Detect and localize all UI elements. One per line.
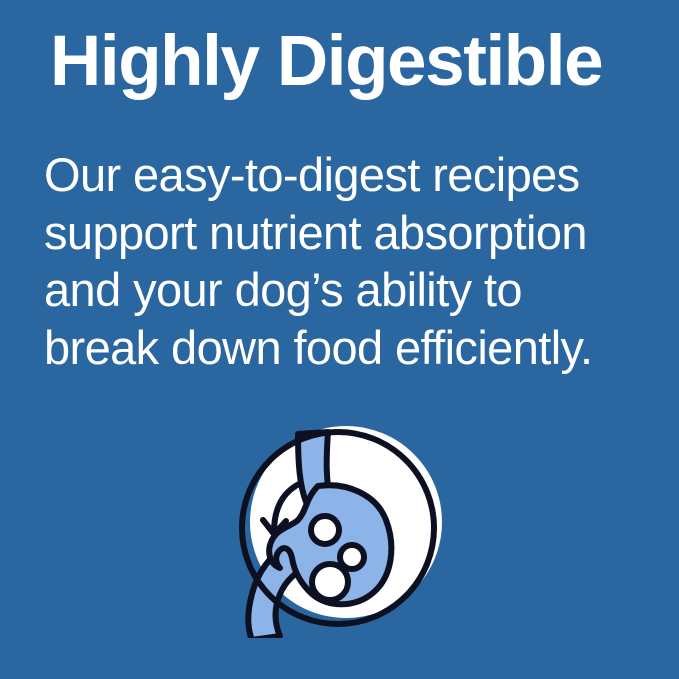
body-line-2: support nutrient absorption	[44, 204, 654, 262]
bubble-middle	[340, 545, 364, 569]
body-line-3: and your dog’s ability to	[44, 261, 654, 319]
body-line-1: Our easy-to-digest recipes	[44, 146, 654, 204]
body-copy: Our easy-to-digest recipes support nutri…	[44, 146, 654, 376]
stomach-digestion-icon	[236, 424, 448, 638]
bubble-top	[311, 516, 339, 544]
bubble-bottom	[312, 564, 348, 600]
highly-digestible-card: Highly Digestible Our easy-to-digest rec…	[0, 0, 679, 679]
body-line-4: break down food efficiently.	[44, 319, 654, 377]
page-title: Highly Digestible	[50, 26, 650, 97]
